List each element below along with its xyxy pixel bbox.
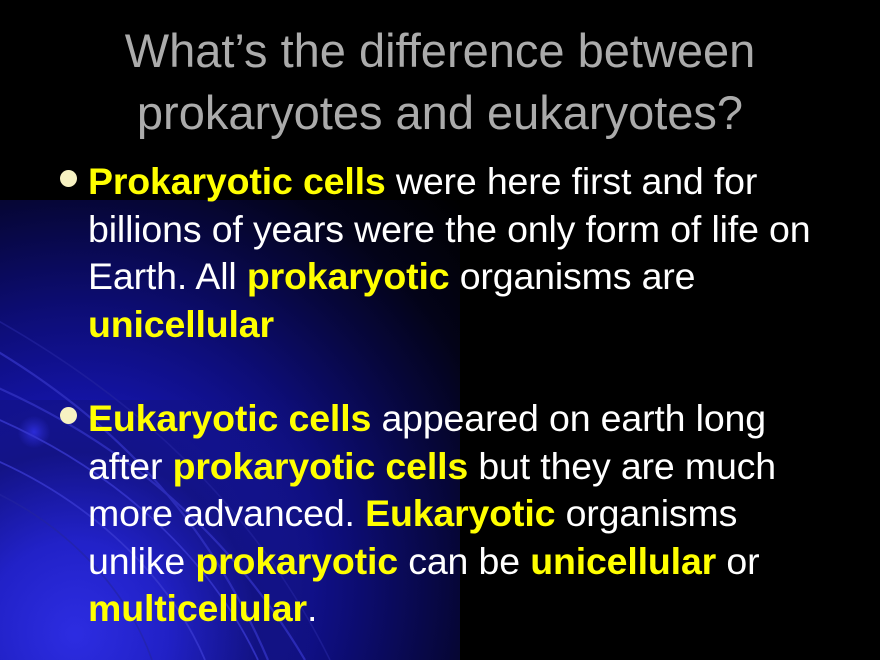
bullet-text-2: Eukaryotic cells appeared on earth long … <box>88 397 776 629</box>
emphasized-term: Eukaryotic <box>365 492 555 534</box>
body-text-run: or <box>716 540 759 582</box>
emphasized-term: multicellular <box>88 587 307 629</box>
body-text-run: can be <box>398 540 530 582</box>
bullet-item-2: Eukaryotic cells appeared on earth long … <box>52 395 842 633</box>
slide-title: What’s the difference between prokaryote… <box>0 20 880 144</box>
emphasized-term: Prokaryotic cells <box>88 160 386 202</box>
emphasized-term: prokaryotic <box>247 255 450 297</box>
body-text-run: organisms are <box>449 255 695 297</box>
bullet-text-1: Prokaryotic cells were here first and fo… <box>88 160 810 345</box>
emphasized-term: unicellular <box>530 540 716 582</box>
round-bullet-icon <box>60 170 77 187</box>
emphasized-term: prokaryotic cells <box>173 445 469 487</box>
emphasized-term: Eukaryotic cells <box>88 397 371 439</box>
presentation-slide: What’s the difference between prokaryote… <box>0 0 880 660</box>
slide-body: Prokaryotic cells were here first and fo… <box>52 158 842 633</box>
body-text-run: . <box>307 587 317 629</box>
bullet-item-1: Prokaryotic cells were here first and fo… <box>52 158 842 348</box>
emphasized-term: unicellular <box>88 303 274 345</box>
background-orbit-dot <box>18 416 50 448</box>
round-bullet-icon <box>60 407 77 424</box>
emphasized-term: prokaryotic <box>195 540 398 582</box>
